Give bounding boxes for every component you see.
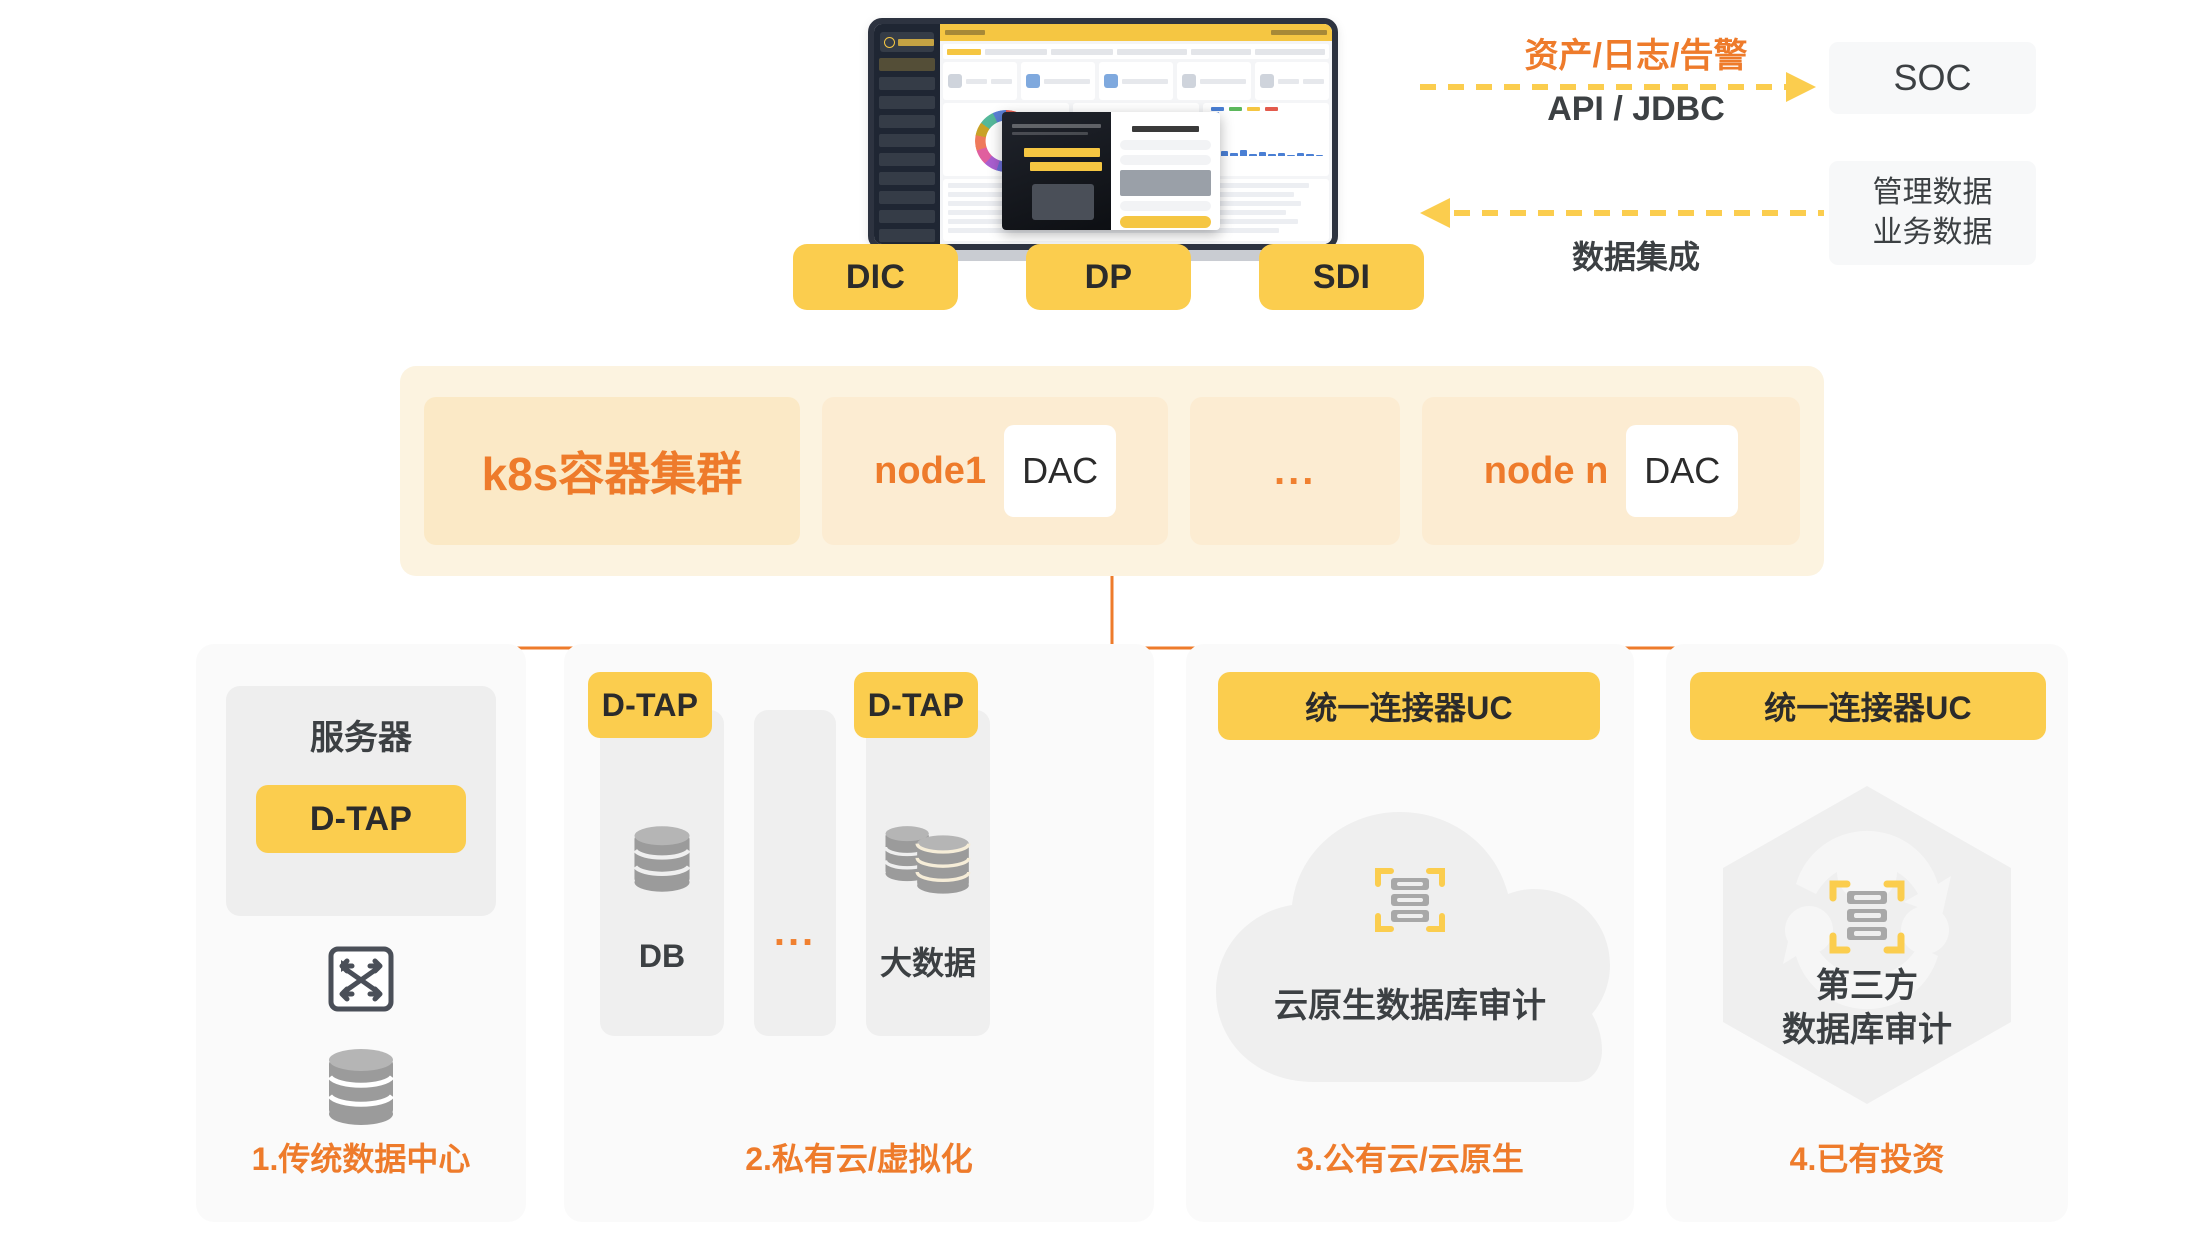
private-cloud-ellipsis-label: ... xyxy=(774,910,816,954)
module-dp-label: DP xyxy=(1085,258,1133,297)
product-dashboard-screenshot xyxy=(868,18,1338,250)
management-data-box: 管理数据 业务数据 xyxy=(1829,161,2036,265)
dashboard-modal xyxy=(1002,112,1220,230)
private-cloud-db-card: DB xyxy=(600,710,724,1036)
database-cylinder-icon xyxy=(325,1044,397,1135)
unified-connector-public-cloud-label: 统一连接器UC xyxy=(1305,683,1513,729)
dashboard-filter-bar xyxy=(943,44,1329,59)
k8s-node-n: node n DAC xyxy=(1422,397,1800,545)
k8s-cluster-band: k8s容器集群 node1 DAC ... node n DAC xyxy=(400,366,1824,576)
dtap-tag-bigdata[interactable]: D-TAP xyxy=(854,672,978,738)
architecture-diagram: 资产/日志/告警 API / JDBC 数据集成 SOC 管理数据 业务数据 D… xyxy=(0,0,2200,1238)
section-4-label: 4.已有投资 xyxy=(1666,1134,2068,1180)
k8s-node-n-name: node n xyxy=(1484,450,1609,493)
dtap-tag-db-label: D-TAP xyxy=(602,687,698,724)
database-cylinder-icon xyxy=(631,822,693,901)
private-cloud-ellipsis-card: ... xyxy=(754,710,836,1036)
unified-connector-existing[interactable]: 统一连接器UC xyxy=(1690,672,2046,740)
unified-connector-public-cloud[interactable]: 统一连接器UC xyxy=(1218,672,1600,740)
section-public-cloud: 统一连接器UC xyxy=(1186,644,1634,1222)
section-private-cloud: DB ... xyxy=(564,644,1154,1222)
existing-investment-title: 第三方 数据库审计 xyxy=(1666,964,2068,1052)
k8s-node-1-name: node1 xyxy=(874,450,986,493)
public-cloud-title: 云原生数据库审计 xyxy=(1194,978,1626,1027)
section-2-label: 2.私有云/虚拟化 xyxy=(564,1134,1154,1180)
k8s-cluster-title: k8s容器集群 xyxy=(424,397,800,545)
private-cloud-bigdata-name: 大数据 xyxy=(866,938,990,984)
unified-connector-existing-label: 统一连接器UC xyxy=(1764,683,1972,729)
k8s-node-n-dac: DAC xyxy=(1626,425,1738,517)
outbound-data-label: 资产/日志/告警 xyxy=(1506,28,1766,77)
hexagon-shape: 第三方 数据库审计 xyxy=(1666,780,2068,1110)
inbound-arrow xyxy=(1420,210,1820,216)
dtap-agent-server[interactable]: D-TAP xyxy=(256,785,466,853)
soc-label: SOC xyxy=(1893,57,1971,99)
k8s-node-ellipsis: ... xyxy=(1190,397,1400,545)
module-sdi[interactable]: SDI xyxy=(1259,244,1424,310)
k8s-node-1-dac: DAC xyxy=(1004,425,1116,517)
management-data-line1: 管理数据 xyxy=(1873,173,1993,214)
bigdata-stacked-cylinders-icon xyxy=(882,822,974,907)
network-switch-icon xyxy=(328,946,394,1017)
ellipsis-icon: ... xyxy=(754,910,836,955)
server-card: 服务器 D-TAP xyxy=(226,686,496,916)
module-dp[interactable]: DP xyxy=(1026,244,1191,310)
dtap-agent-server-label: D-TAP xyxy=(310,800,412,839)
inbound-data-label: 数据集成 xyxy=(1506,232,1766,278)
private-cloud-db-name: DB xyxy=(600,938,724,975)
database-audit-scan-icon xyxy=(1372,862,1448,943)
k8s-cluster-title-label: k8s容器集群 xyxy=(482,438,743,504)
existing-investment-title-line1: 第三方 xyxy=(1666,964,2068,1008)
k8s-ellipsis-label: ... xyxy=(1274,449,1316,494)
server-title: 服务器 xyxy=(226,710,496,759)
dashboard-sidebar xyxy=(874,24,940,244)
module-sdi-label: SDI xyxy=(1313,258,1370,297)
module-dic[interactable]: DIC xyxy=(793,244,958,310)
dtap-tag-bigdata-label: D-TAP xyxy=(868,687,964,724)
outbound-protocol-label: API / JDBC xyxy=(1506,90,1766,129)
cloud-shape: 云原生数据库审计 xyxy=(1194,792,1626,1092)
k8s-node-1-dac-label: DAC xyxy=(1022,450,1098,492)
dashboard-topbar xyxy=(940,24,1332,41)
k8s-node-1: node1 DAC xyxy=(822,397,1168,545)
existing-investment-title-line2: 数据库审计 xyxy=(1666,1008,2068,1052)
section-traditional-datacenter: 服务器 D-TAP xyxy=(196,644,526,1222)
dashboard-kpi-row xyxy=(943,62,1329,100)
section-existing-investment: 统一连接器UC xyxy=(1666,644,2068,1222)
private-cloud-bigdata-card: 大数据 xyxy=(866,710,990,1036)
management-data-line2: 业务数据 xyxy=(1873,213,1993,254)
section-3-label: 3.公有云/云原生 xyxy=(1186,1134,1634,1180)
soc-box: SOC xyxy=(1829,42,2036,114)
k8s-node-n-dac-label: DAC xyxy=(1644,450,1720,492)
bar-chart xyxy=(1211,110,1323,156)
dtap-tag-db[interactable]: D-TAP xyxy=(588,672,712,738)
module-dic-label: DIC xyxy=(846,258,905,297)
section-1-label: 1.传统数据中心 xyxy=(196,1134,526,1180)
